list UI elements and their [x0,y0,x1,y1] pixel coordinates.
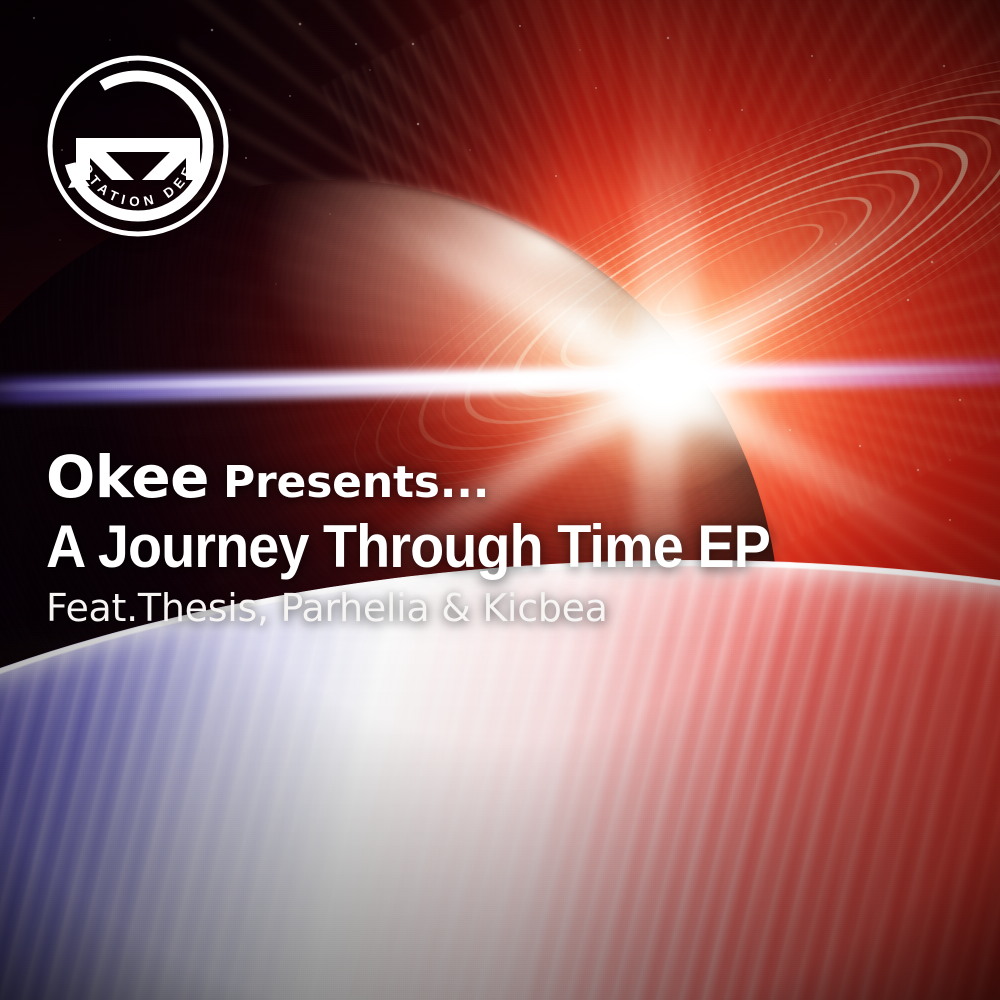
credits-block: Okee Presents... A Journey Through Time … [46,448,926,630]
rotation-deep-logo[interactable]: ROTATION DEEP [38,46,238,246]
presents-label: Presents... [223,461,489,505]
artist-presents-line: Okee Presents... [46,448,926,506]
artist-name: Okee [46,448,209,506]
release-title: A Journey Through Time EP [46,516,864,578]
featuring-artists: Feat.Thesis, Parhelia & Kicbea [46,586,926,630]
album-cover: ROTATION DEEP Okee Presents... A Journey… [0,0,1000,1000]
